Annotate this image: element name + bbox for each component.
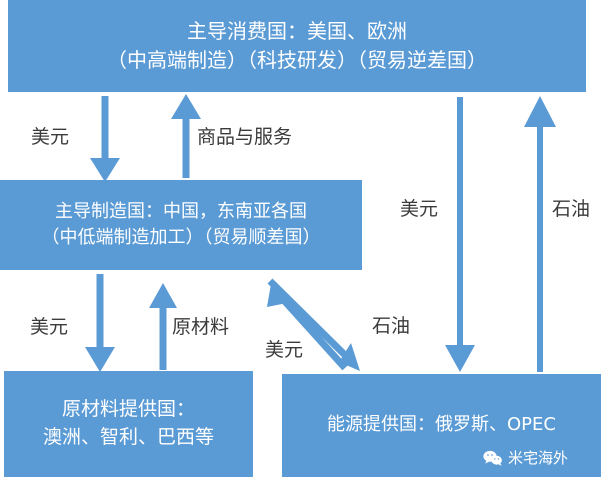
box-energy-line1: 能源提供国：俄罗斯、OPEC	[327, 412, 556, 438]
label-materials-raw-to-manufacturer: 原材料	[172, 318, 229, 337]
box-raw-material-countries: 原材料提供国： 澳洲、智利、巴西等	[4, 371, 253, 477]
box-manufacturing-countries: 主导制造国：中国，东南亚各国 （中低端制造加工）（贸易顺差国）	[0, 180, 362, 270]
label-usd-manufacturer-to-energy: 美元	[265, 341, 303, 360]
box-consumer-line1: 主导消费国：美国、欧洲	[187, 17, 407, 46]
arrow-usd-consumer-to-manufacturer	[90, 96, 120, 182]
label-oil-energy-to-consumer: 石油	[552, 200, 590, 219]
box-consumer-countries: 主导消费国：美国、欧洲 （中高端制造）（科技研发）（贸易逆差国）	[8, 0, 586, 92]
box-manufacturer-line1: 主导制造国：中国，东南亚各国	[55, 199, 307, 225]
label-goods-manufacturer-to-consumer: 商品与服务	[197, 128, 292, 147]
label-oil-energy-to-manufacturer: 石油	[372, 317, 410, 336]
arrow-oil-energy-to-consumer	[524, 96, 556, 372]
arrow-usd-consumer-to-energy	[445, 97, 475, 372]
arrow-usd-manufacturer-to-raw	[85, 274, 115, 372]
diagram-canvas: 主导消费国：美国、欧洲 （中高端制造）（科技研发）（贸易逆差国） 主导制造国：中…	[0, 0, 601, 477]
label-usd-manufacturer-to-raw: 美元	[30, 318, 68, 337]
label-usd-consumer-to-energy: 美元	[400, 200, 438, 219]
label-usd-consumer-to-manufacturer: 美元	[31, 128, 69, 147]
box-manufacturer-line2: （中低端制造加工）（贸易顺差国）	[42, 225, 321, 251]
box-consumer-line2: （中高端制造）（科技研发）（贸易逆差国）	[107, 46, 487, 75]
box-raw-line1: 原材料提供国：	[62, 396, 195, 424]
watermark: 米宅海外	[483, 447, 568, 468]
box-raw-line2: 澳洲、智利、巴西等	[43, 424, 214, 452]
watermark-text: 米宅海外	[508, 447, 568, 468]
wechat-icon	[483, 450, 503, 466]
